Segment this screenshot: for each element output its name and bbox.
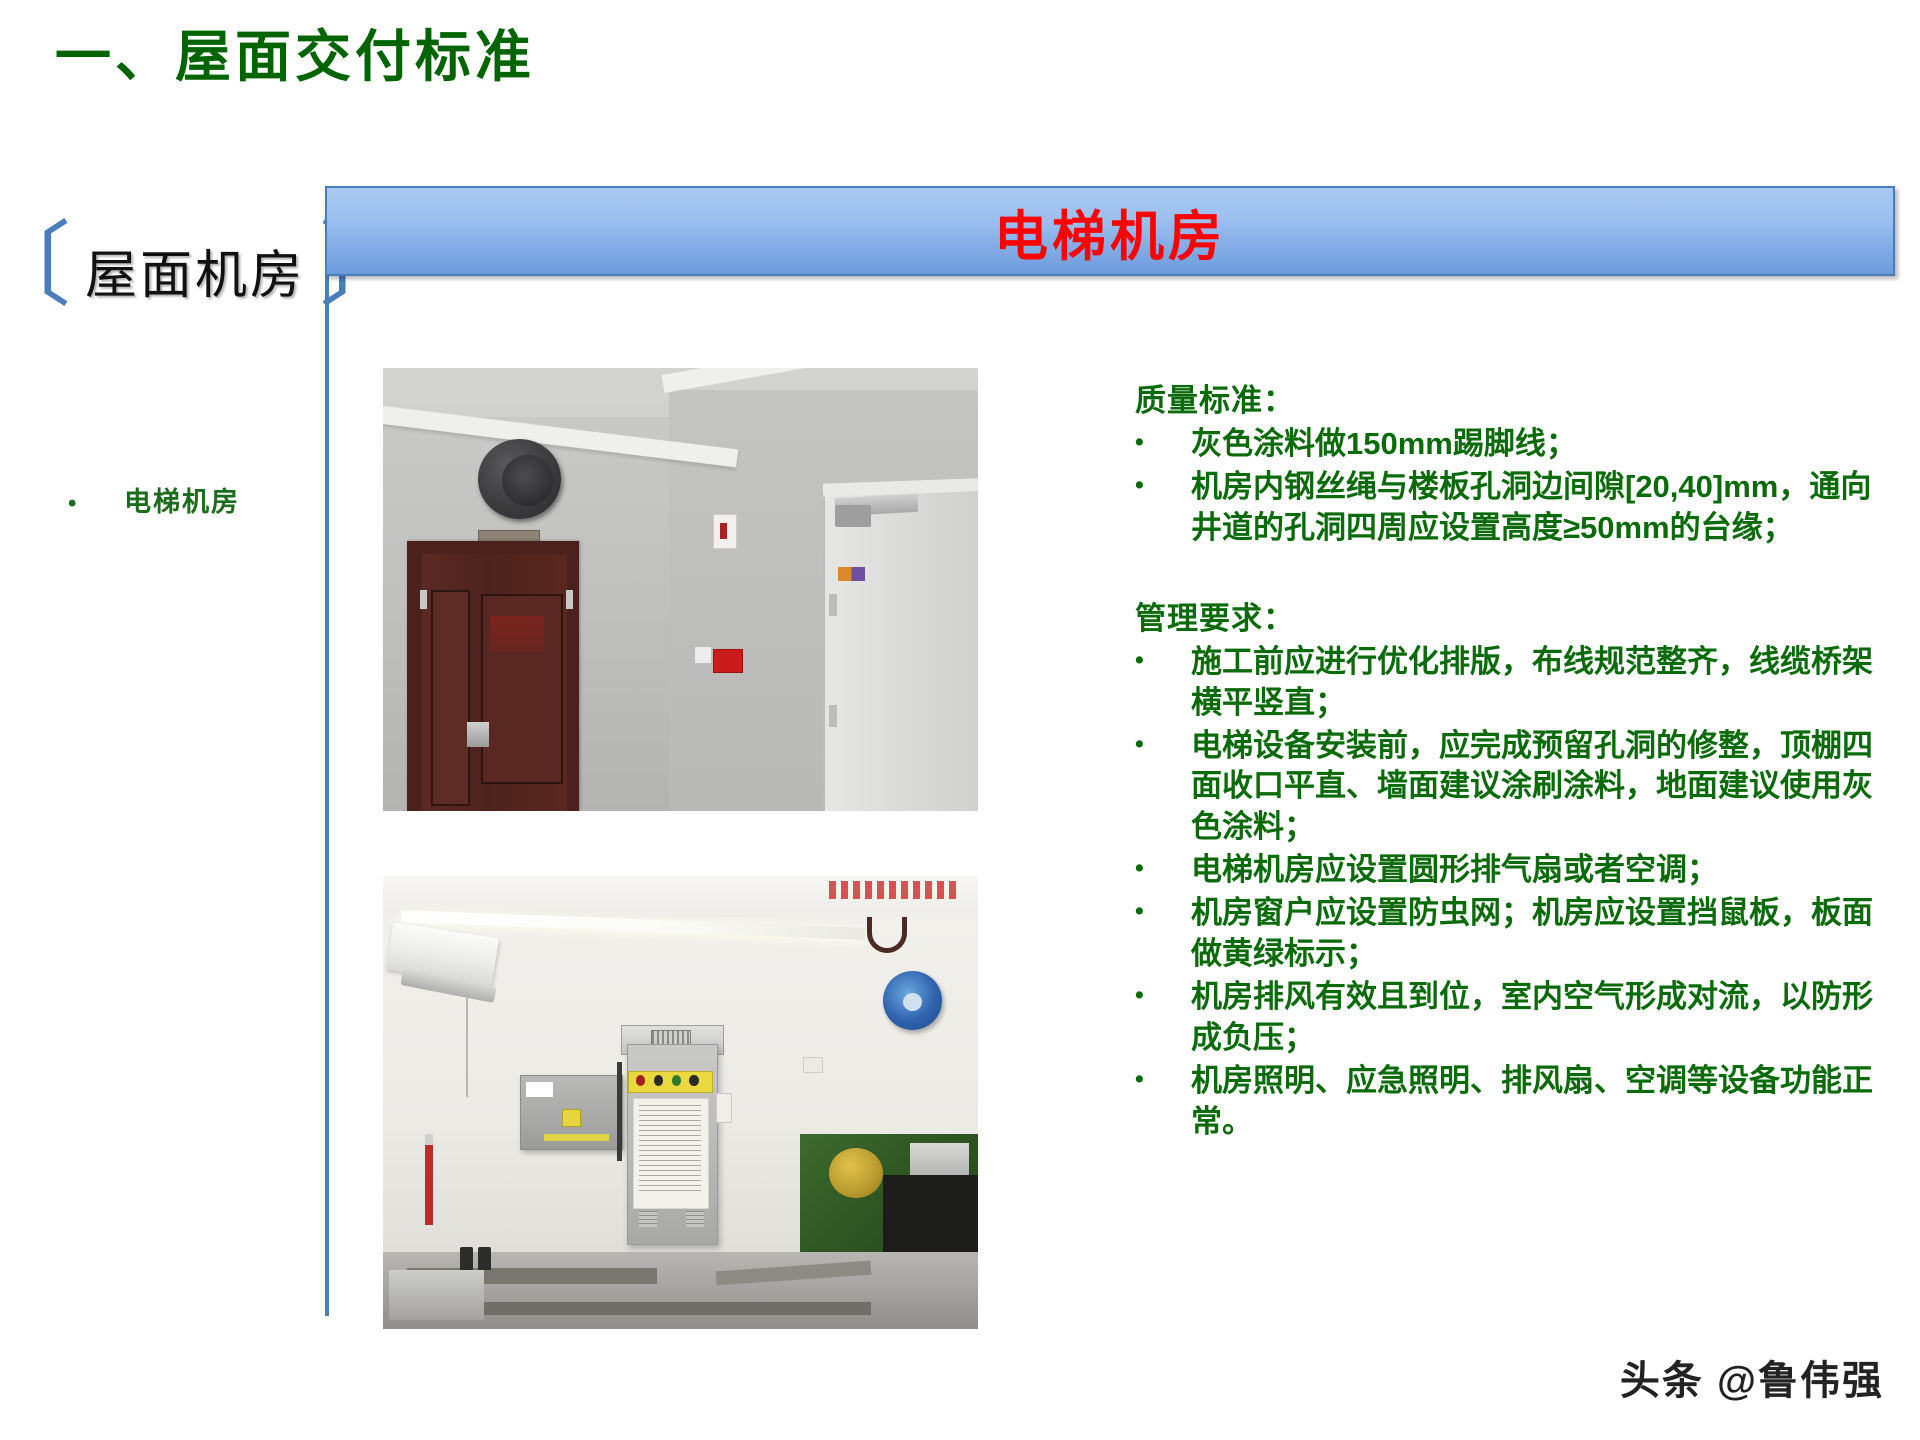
list-item: • 施工前应进行优化排版，布线规范整齐，线缆桥架横平竖直； [1135,642,1875,724]
round-exhaust-fan-icon [478,439,561,519]
section-heading: 管理要求： [1135,593,1875,638]
photo-elevator-machine-room-entrance [383,368,978,811]
list-item: • 机房照明、应急照明、排风扇、空调等设备功能正常。 [1135,1061,1875,1143]
traction-sheave [829,1148,883,1198]
photo-elevator-machine-room-interior [383,876,978,1329]
door-panel-left [431,590,471,807]
list-item-text: 机房窗户应设置防虫网；机房应设置挡鼠板，板面做黄绿标示； [1191,893,1875,975]
list-item: • 机房窗户应设置防虫网；机房应设置挡鼠板，板面做黄绿标示； [1135,893,1875,975]
concrete-block [389,1270,484,1320]
list-item: • 电梯设备安装前，应完成预留孔洞的修整，顶棚四面收口平直、墙面建议涂刷涂料，地… [1135,726,1875,849]
section-management-requirement: 管理要求： • 施工前应进行优化排版，布线规范整齐，线缆桥架横平竖直； • 电梯… [1135,593,1875,1143]
hanging-wire [466,998,469,1098]
intercom-phone [716,1093,732,1122]
door-hinge [566,590,573,610]
sidebar-item-label: 电梯机房 [124,480,240,519]
section-quality-standard: 质量标准： • 灰色涂料做150mm踢脚线； • 机房内钢丝绳与楼板孔洞边间隙[… [1135,375,1875,549]
bullet-icon: • [1135,977,1191,1015]
cable-conduit [617,1062,622,1162]
bullet-icon: • [1135,726,1191,764]
anchor-cap [478,1247,491,1270]
panel-left-rule [325,186,329,1316]
requirements-text-column: 质量标准： • 灰色涂料做150mm踢脚线； • 机房内钢丝绳与楼板孔洞边间隙[… [1135,375,1875,1145]
bullet-icon: • [1135,467,1191,505]
door-sticker [838,567,865,580]
cabinet-button [672,1075,682,1086]
section-heading: 质量标准： [1135,375,1875,420]
bullet-icon: • [68,490,124,518]
list-item-text: 灰色涂料做150mm踢脚线； [1191,424,1875,465]
instruction-sheet-text [639,1105,701,1196]
manual-call-point [713,649,742,673]
fire-door-hinge [829,594,837,616]
cabinet-vent [686,1211,704,1227]
bullet-icon: • [1135,424,1191,462]
door-closer-body [835,505,871,527]
list-item: • 灰色涂料做150mm踢脚线； [1135,424,1875,465]
control-box-stripe [544,1134,609,1140]
list-item: • 电梯机房应设置圆形排气扇或者空调； [1135,850,1875,891]
warning-label [562,1109,582,1127]
door-hinge [420,590,427,610]
machine-control-box [910,1143,970,1175]
door-handle [467,722,488,746]
door-red-marking [490,616,544,651]
control-box-label [526,1082,553,1096]
fire-door-hinge [829,705,837,727]
fire-door-white [823,492,978,811]
section-spacer [1135,551,1875,593]
list-item-text: 机房内钢丝绳与楼板孔洞边间隙[20,40]mm，通向井道的孔洞四周应设置高度≥5… [1191,467,1875,549]
wall-socket [803,1057,823,1073]
banner-title: 电梯机房 [994,192,1226,271]
list-item: • 机房排风有效且到位，室内空气形成对流，以防形成负压； [1135,977,1875,1059]
list-item-text: 机房排风有效且到位，室内空气形成对流，以防形成负压； [1191,977,1875,1059]
cabinet-vent [639,1211,657,1227]
sidebar-heading-label: 屋面机房 [85,233,305,308]
bracket-left-icon: 〔 [0,220,71,312]
bullet-icon: • [1135,850,1191,888]
anchor-cap [460,1247,473,1270]
list-item-text: 电梯设备安装前，应完成预留孔洞的修整，顶棚四面收口平直、墙面建议涂刷涂料，地面建… [1191,726,1875,849]
red-wall-text [829,881,960,899]
list-item-text: 电梯机房应设置圆形排气扇或者空调； [1191,850,1875,891]
list-item-text: 机房照明、应急照明、排风扇、空调等设备功能正常。 [1191,1061,1875,1143]
watermark: 头条 @鲁伟强 [1620,1348,1884,1406]
steel-beam [454,1302,871,1316]
wall-mounted-rod [425,1134,433,1225]
fire-alarm-indicator [720,523,727,539]
sidebar-heading: 〔 屋面机房 〕 [20,230,370,310]
page-title: 一、屋面交付标准 [55,26,535,88]
panel-banner: 电梯机房 [325,186,1895,276]
fan-inner [502,455,554,506]
switch-plate [695,647,710,663]
fan-hub [903,993,922,1011]
bullet-icon: • [1135,1061,1191,1099]
bullet-icon: • [1135,642,1191,680]
list-item-text: 施工前应进行优化排版，布线规范整齐，线缆桥架横平竖直； [1191,642,1875,724]
bullet-icon: • [1135,893,1191,931]
list-item: • 机房内钢丝绳与楼板孔洞边间隙[20,40]mm，通向井道的孔洞四周应设置高度… [1135,467,1875,549]
